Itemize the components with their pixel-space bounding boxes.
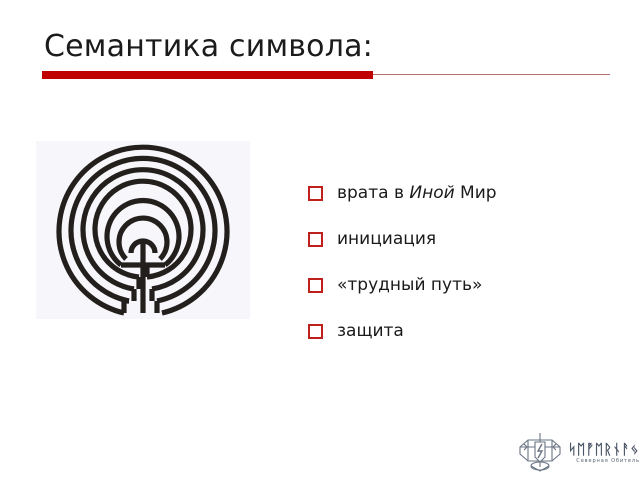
logo: ᛋᛖᚡᛖᚱᚾᚨᛃᚨ Северная Обитель bbox=[516, 430, 634, 475]
title-divider bbox=[42, 71, 610, 80]
slide: Семантика символа: bbox=[0, 0, 640, 479]
title-divider-accent-bar bbox=[42, 71, 373, 79]
labyrinth-image bbox=[36, 141, 250, 319]
list-item-emphasis: Иной bbox=[409, 183, 454, 203]
list-item-text-before: врата в bbox=[337, 183, 409, 203]
bullet-square-icon bbox=[308, 324, 323, 339]
list-item-label: «трудный путь» bbox=[337, 275, 482, 295]
list-item: защита bbox=[308, 308, 608, 354]
logo-wordmark: ᛋᛖᚡᛖᚱᚾᚨᛃᚨ Северная Обитель bbox=[568, 441, 640, 465]
logo-runes: ᛋᛖᚡᛖᚱᚾᚨᛃᚨ bbox=[568, 443, 640, 458]
logo-caption: Северная Обитель bbox=[576, 458, 640, 465]
list-item-text-after: Мир bbox=[455, 183, 497, 203]
bullet-square-icon bbox=[308, 278, 323, 293]
list-item-label: инициация bbox=[337, 229, 436, 249]
labyrinth-icon bbox=[36, 141, 250, 319]
rune-shield-emblem-icon bbox=[516, 431, 564, 474]
list-item: врата в Иной Мир bbox=[308, 170, 608, 216]
page-title: Семантика символа: bbox=[44, 27, 373, 67]
list-item: инициация bbox=[308, 216, 608, 262]
bullet-square-icon bbox=[308, 232, 323, 247]
bullet-square-icon bbox=[308, 186, 323, 201]
list-item: «трудный путь» bbox=[308, 262, 608, 308]
list-item-label: защита bbox=[337, 321, 404, 341]
bullet-list: врата в Иной Мир инициация «трудный путь… bbox=[308, 170, 608, 354]
list-item-label: врата в Иной Мир bbox=[337, 183, 497, 203]
